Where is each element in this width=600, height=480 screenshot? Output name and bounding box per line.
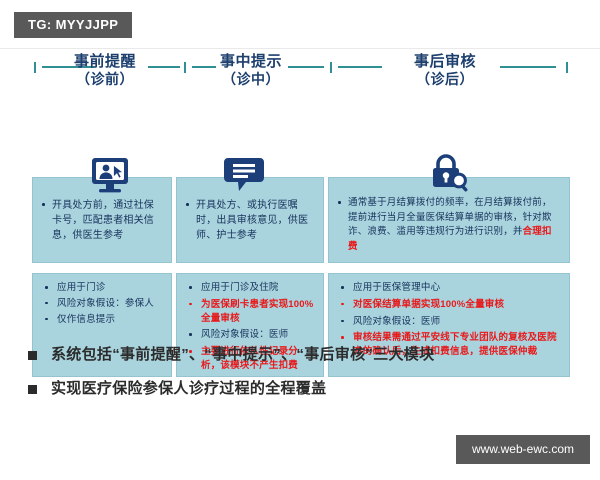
summary-text: 实现医疗保险参保人诊疗过程的全程覆盖 bbox=[51, 379, 326, 399]
list-item: 风险对象假设：参保人 bbox=[39, 297, 163, 311]
column-header-1: 事前提醒 （诊前） bbox=[40, 53, 170, 88]
rule-tick bbox=[34, 62, 36, 73]
list-item-highlight: 为医保刷卡患者实现100%全量审核 bbox=[183, 298, 315, 326]
bullet-list: 开具处方、或执行医嘱时，出具审核意见，供医师、护士参考 bbox=[183, 198, 315, 243]
list-item: 开具处方、或执行医嘱时，出具审核意见，供医师、护士参考 bbox=[183, 198, 315, 243]
bullet-list: 应用于门诊 风险对象假设：参保人 仅作信息提示 bbox=[39, 281, 163, 326]
square-bullet-icon bbox=[28, 351, 37, 360]
list-item: 仅作信息提示 bbox=[39, 313, 163, 327]
site-watermark-badge: www.web-ewc.com bbox=[456, 435, 590, 464]
column-headers: 事前提醒 （诊前） 事中提示 （诊中） 事后审核 （诊后） bbox=[0, 49, 600, 111]
list-item: 应用于门诊 bbox=[39, 281, 163, 295]
lock-magnifier-icon bbox=[428, 153, 472, 193]
slide-content: 事前提醒 （诊前） 事中提示 （诊中） 事后审核 （诊后） bbox=[0, 48, 600, 433]
summary-row: 实现医疗保险参保人诊疗过程的全程覆盖 bbox=[28, 379, 588, 399]
bullet-list: 通常基于月结算拨付的频率，在月结算拨付前，提前进行当月全量医保结算单据的审核，针… bbox=[335, 196, 561, 255]
list-item: 应用于门诊及住院 bbox=[183, 281, 315, 295]
list-item: 应用于医保管理中心 bbox=[335, 281, 561, 295]
list-item: 开具处方前，通过社保卡号，匹配患者相关信息，供医生参考 bbox=[39, 198, 163, 243]
summary-row: 系统包括“事前提醒”、“事中提示”、“事后审核”三大模块 bbox=[28, 345, 588, 365]
column-header-2: 事中提示 （诊中） bbox=[186, 53, 316, 88]
rule-tick bbox=[566, 62, 568, 73]
column-header-3: 事后审核 （诊后） bbox=[370, 53, 520, 88]
monitor-person-cursor-icon bbox=[88, 157, 132, 197]
column-subtitle: （诊前） bbox=[40, 70, 170, 88]
list-item-text: 通常基于月结算拨付的频率，在月结算拨付前，提前进行当月全量医保结算单据的审核，针… bbox=[348, 197, 552, 237]
column-subtitle: （诊后） bbox=[370, 70, 520, 88]
square-bullet-icon bbox=[28, 385, 37, 394]
rule-tick bbox=[330, 62, 332, 73]
list-item: 风险对象假设：医师 bbox=[183, 328, 315, 342]
speech-bubble-icon bbox=[222, 155, 266, 195]
list-item-highlight: 对医保结算单据实现100%全量审核 bbox=[335, 298, 561, 312]
list-item: 风险对象假设：医师 bbox=[335, 315, 561, 329]
column-title: 事中提示 bbox=[186, 53, 316, 70]
column-title: 事后审核 bbox=[370, 53, 520, 70]
list-item: 通常基于月结算拨付的频率，在月结算拨付前，提前进行当月全量医保结算单据的审核，针… bbox=[335, 196, 561, 255]
column-title: 事前提醒 bbox=[40, 53, 170, 70]
summary-section: 系统包括“事前提醒”、“事中提示”、“事后审核”三大模块 实现医疗保险参保人诊疗… bbox=[28, 345, 588, 412]
column-subtitle: （诊中） bbox=[186, 70, 316, 88]
bullet-list: 开具处方前，通过社保卡号，匹配患者相关信息，供医生参考 bbox=[39, 198, 163, 243]
summary-text: 系统包括“事前提醒”、“事中提示”、“事后审核”三大模块 bbox=[51, 345, 434, 365]
tg-watermark-badge: TG: MYYJJPP bbox=[14, 12, 132, 38]
